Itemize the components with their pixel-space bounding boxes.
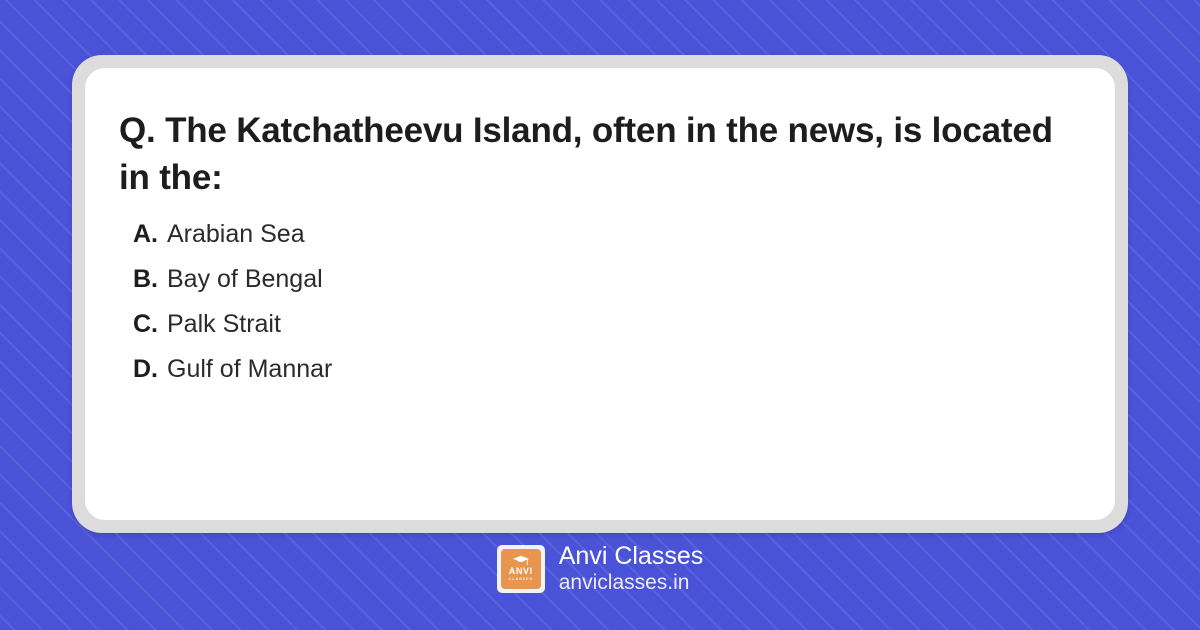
brand-logo: ANVI CLASSES	[497, 545, 545, 593]
question-text: Q. The Katchatheevu Island, often in the…	[119, 108, 1081, 202]
option-a-label: Arabian Sea	[167, 222, 305, 247]
brand-logo-subtitle: CLASSES	[509, 576, 534, 582]
option-d-letter: D.	[133, 357, 158, 382]
option-list: A. Arabian Sea B. Bay of Bengal C. Palk …	[119, 222, 1081, 382]
option-a-letter: A.	[133, 222, 158, 247]
brand-name: Anvi Classes	[559, 542, 704, 570]
option-d[interactable]: D. Gulf of Mannar	[133, 357, 1081, 382]
graduation-cap-icon	[512, 555, 530, 566]
footer-branding: ANVI CLASSES Anvi Classes anviclasses.in	[0, 542, 1200, 595]
brand-text: Anvi Classes anviclasses.in	[559, 542, 704, 595]
brand-logo-title: ANVI	[509, 567, 533, 576]
brand-website[interactable]: anviclasses.in	[559, 570, 704, 595]
option-c[interactable]: C. Palk Strait	[133, 312, 1081, 337]
option-b-letter: B.	[133, 267, 158, 292]
option-d-label: Gulf of Mannar	[167, 357, 332, 382]
question-card-shadow: Q. The Katchatheevu Island, often in the…	[72, 55, 1128, 533]
option-b[interactable]: B. Bay of Bengal	[133, 267, 1081, 292]
option-a[interactable]: A. Arabian Sea	[133, 222, 1081, 247]
option-c-label: Palk Strait	[167, 312, 281, 337]
brand-logo-tile: ANVI CLASSES	[501, 549, 541, 589]
option-c-letter: C.	[133, 312, 158, 337]
option-b-label: Bay of Bengal	[167, 267, 323, 292]
question-card: Q. The Katchatheevu Island, often in the…	[85, 68, 1115, 520]
quiz-card-page: Q. The Katchatheevu Island, often in the…	[0, 0, 1200, 630]
